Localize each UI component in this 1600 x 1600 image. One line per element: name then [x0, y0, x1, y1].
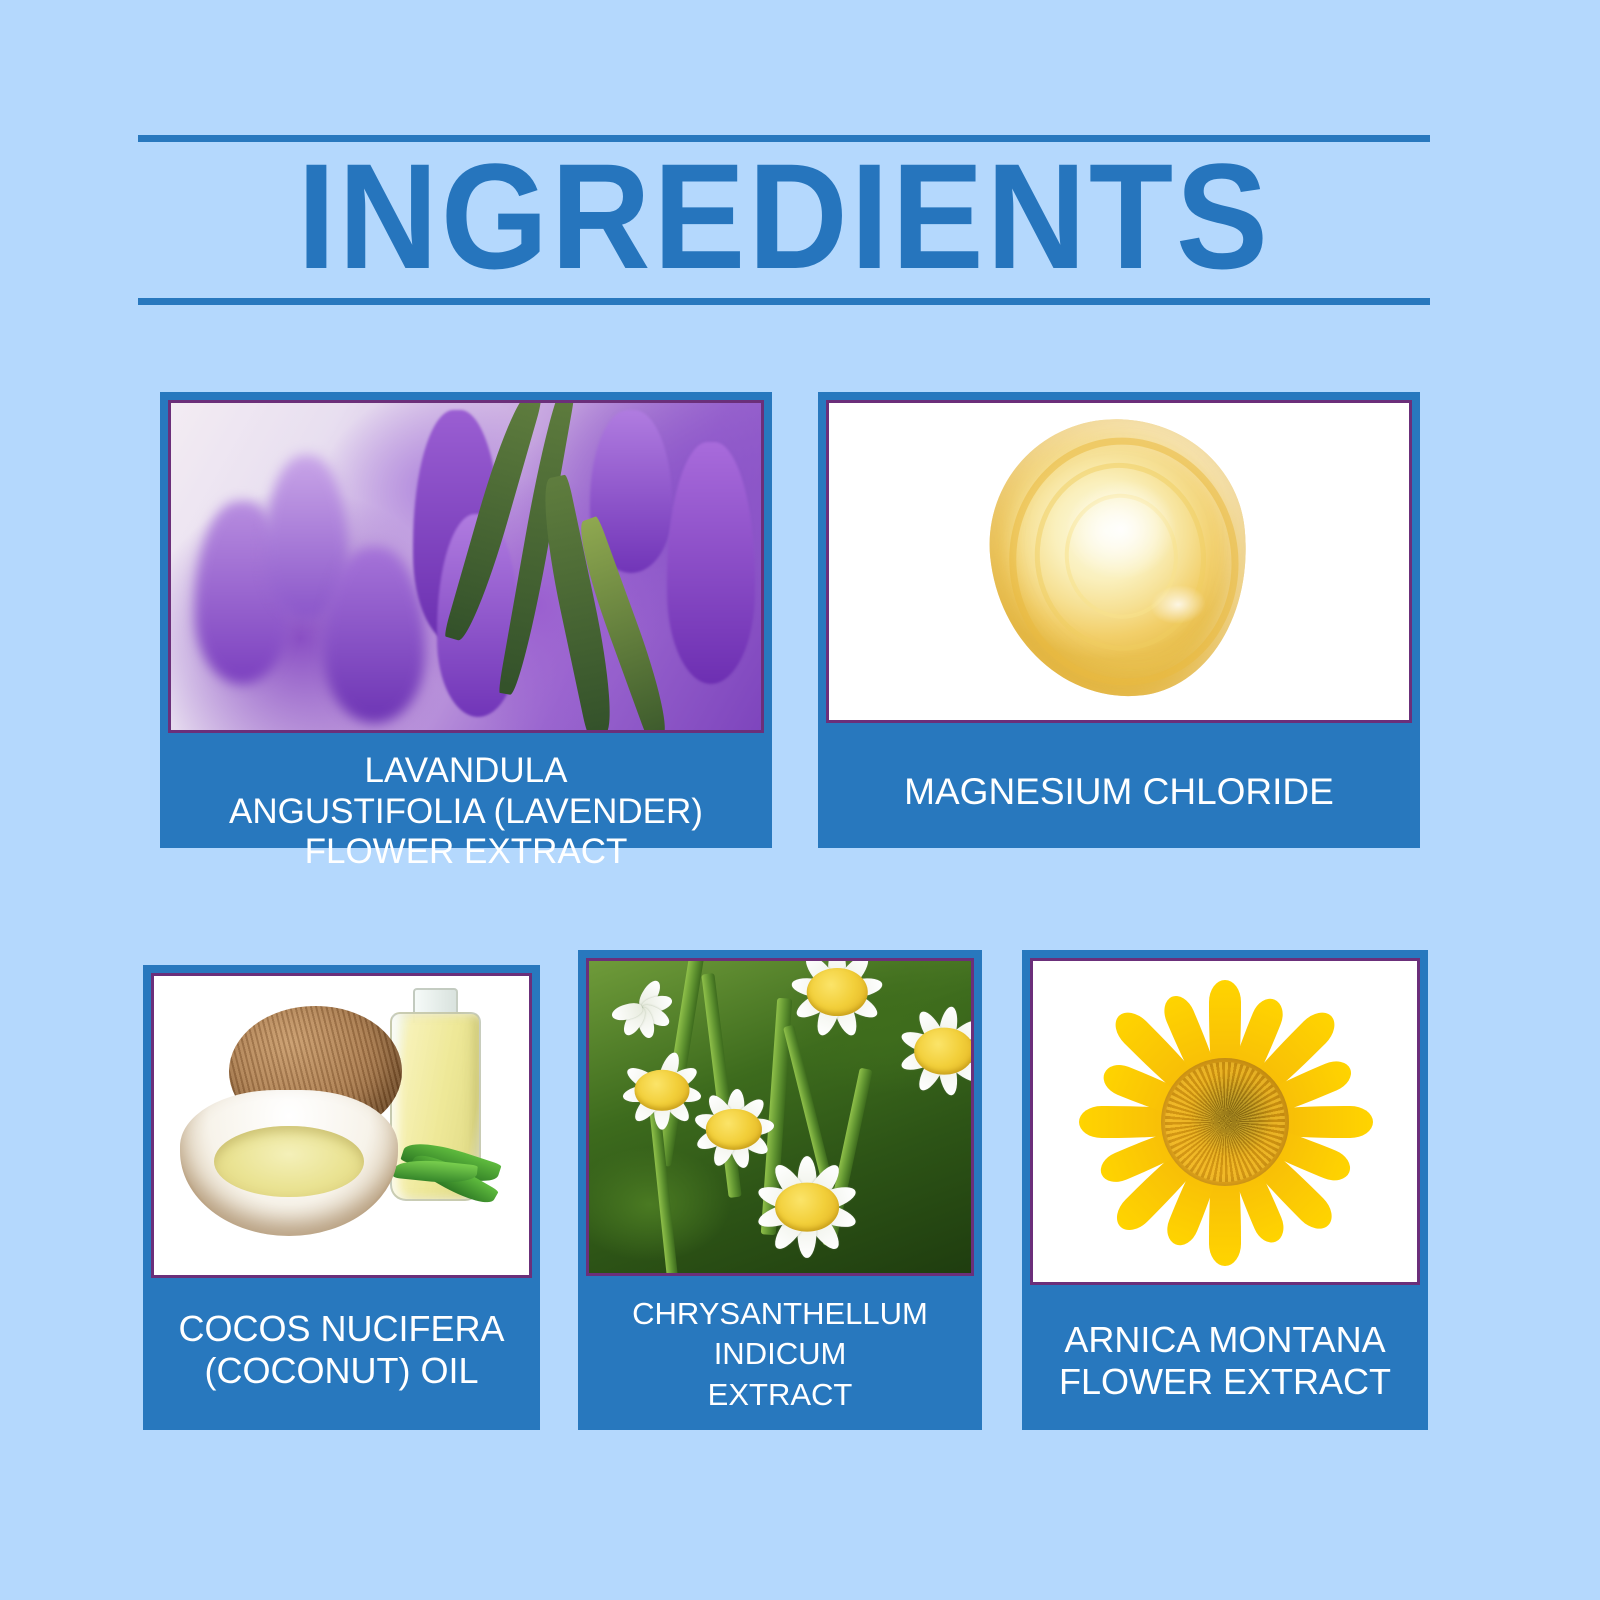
photo-frame — [1030, 958, 1420, 1285]
ingredient-card-chrysanthellum[interactable]: CHRYSANTHELLUM INDICUM EXTRACT — [578, 950, 982, 1430]
caption-arnica: ARNICA MONTANA FLOWER EXTRACT — [1030, 1319, 1420, 1403]
page-title: INGREDIENTS — [190, 131, 1379, 301]
title-rule-bottom — [138, 298, 1430, 305]
photo-frame — [168, 400, 764, 733]
white-daisy-flowers-photo — [589, 961, 971, 1273]
yellow-arnica-flower-photo — [1033, 961, 1417, 1282]
ingredient-card-arnica[interactable]: ARNICA MONTANA FLOWER EXTRACT — [1022, 950, 1428, 1430]
lavender-flowers-photo — [171, 403, 761, 730]
page-title-block: INGREDIENTS — [138, 135, 1430, 142]
ingredient-card-coconut[interactable]: COCOS NUCIFERA (COCONUT) OIL — [143, 965, 540, 1430]
golden-oil-droplet-photo — [829, 403, 1409, 720]
daisy-flower — [597, 973, 689, 1042]
daisy-flower — [879, 1005, 971, 1099]
coconut-and-oil-bottle-photo — [154, 976, 529, 1275]
caption-magnesium: MAGNESIUM CHLORIDE — [826, 771, 1412, 814]
caption-lavender: LAVANDULA ANGUSTIFOLIA (LAVENDER) FLOWER… — [168, 751, 764, 873]
daisy-flower — [734, 1154, 879, 1260]
photo-frame — [586, 958, 974, 1276]
ingredient-card-magnesium[interactable]: MAGNESIUM CHLORIDE — [818, 392, 1420, 848]
ingredient-card-lavender[interactable]: LAVANDULA ANGUSTIFOLIA (LAVENDER) FLOWER… — [160, 392, 772, 848]
photo-frame — [826, 400, 1412, 723]
photo-frame — [151, 973, 532, 1278]
caption-chrysanthellum: CHRYSANTHELLUM INDICUM EXTRACT — [586, 1294, 974, 1415]
ingredients-poster: INGREDIENTS LAVANDULA ANGUSTIFOLIA (LAVE… — [0, 0, 1600, 1600]
caption-coconut: COCOS NUCIFERA (COCONUT) OIL — [151, 1308, 532, 1392]
